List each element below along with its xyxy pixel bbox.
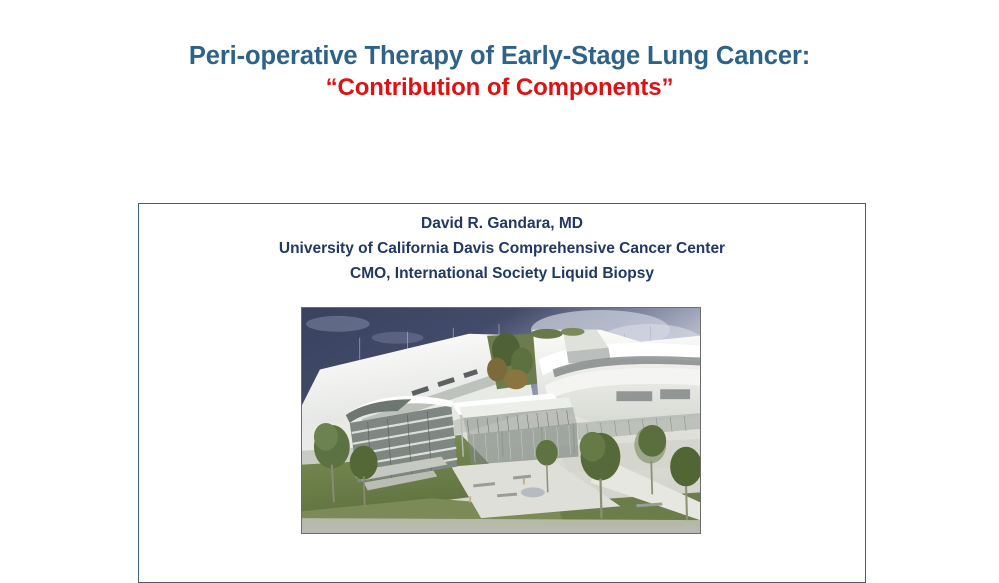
author-block: David R. Gandara, MD University of Calif…	[139, 211, 865, 286]
content-frame: David R. Gandara, MD University of Calif…	[138, 203, 866, 583]
slide-title: Peri-operative Therapy of Early-Stage Lu…	[0, 40, 999, 103]
author-affiliation: University of California Davis Comprehen…	[139, 236, 865, 261]
cancer-center-photo-image	[302, 308, 700, 533]
author-name: David R. Gandara, MD	[139, 211, 865, 236]
title-line-primary: Peri-operative Therapy of Early-Stage Lu…	[0, 40, 999, 72]
author-role: CMO, International Society Liquid Biopsy	[139, 261, 865, 286]
cancer-center-photo	[301, 307, 701, 534]
title-line-subtitle: “Contribution of Components”	[0, 72, 999, 103]
slide-root: Peri-operative Therapy of Early-Stage Lu…	[0, 0, 999, 562]
